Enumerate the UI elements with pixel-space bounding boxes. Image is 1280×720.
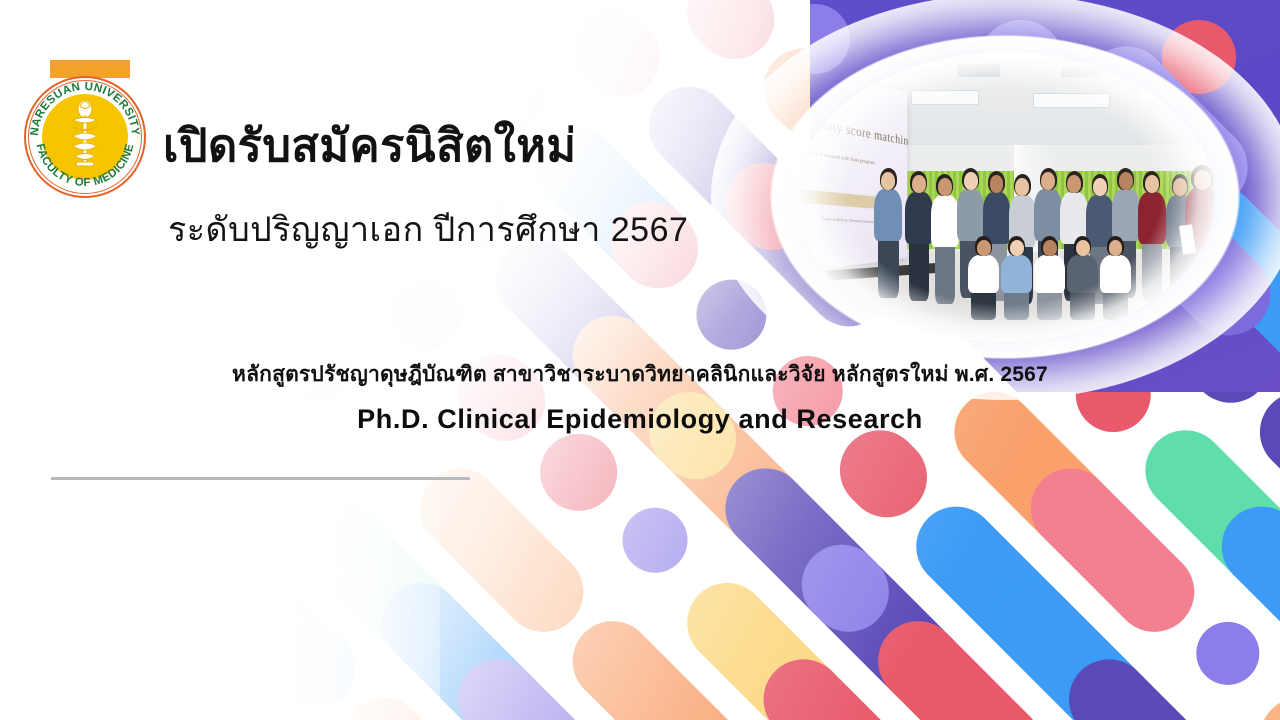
person-speaker bbox=[1184, 165, 1215, 308]
person-head bbox=[1067, 175, 1081, 193]
rod-of-asclepius-icon bbox=[42, 94, 128, 180]
person-torso bbox=[905, 192, 933, 244]
person-head bbox=[912, 175, 926, 193]
person-crouching bbox=[1099, 236, 1132, 320]
ceiling-vent-2 bbox=[1061, 67, 1099, 77]
person-legs bbox=[909, 242, 929, 300]
person-head bbox=[1093, 178, 1107, 196]
ceiling-light-2 bbox=[986, 52, 1054, 63]
person-head bbox=[990, 175, 1004, 193]
person-torso bbox=[931, 195, 959, 247]
person-legs bbox=[935, 246, 955, 304]
page-subtitle: ระดับปริญญาเอก ปีการศึกษา 2567 bbox=[168, 213, 688, 247]
slide-title: Propensity score matching bbox=[795, 110, 904, 148]
person-head bbox=[938, 178, 952, 196]
person-head bbox=[881, 172, 895, 190]
person-torso bbox=[1067, 255, 1098, 294]
person-legs bbox=[1037, 292, 1062, 321]
person-standing bbox=[873, 168, 903, 298]
person-legs bbox=[1142, 242, 1162, 300]
ceiling-vent-1 bbox=[958, 64, 1000, 77]
program-name-thai: หลักสูตรปรัชญาดุษฎีบัณฑิต สาขาวิชาระบาดว… bbox=[0, 358, 1280, 391]
person-torso bbox=[1001, 255, 1032, 294]
person-standing bbox=[1137, 171, 1167, 301]
person-head bbox=[1043, 240, 1057, 256]
person-head bbox=[964, 172, 978, 190]
person-legs bbox=[971, 292, 996, 321]
ceiling-light-6 bbox=[1137, 87, 1205, 102]
person-legs bbox=[1103, 292, 1128, 321]
person-torso bbox=[1138, 192, 1166, 244]
person-torso bbox=[1112, 189, 1140, 241]
group-photo: Propensity score matching Analysis of no… bbox=[795, 52, 1215, 342]
person-crouching bbox=[967, 236, 1000, 320]
person-torso bbox=[957, 189, 985, 241]
person-head bbox=[1119, 172, 1133, 190]
person-head bbox=[1010, 240, 1024, 256]
person-legs bbox=[878, 239, 898, 297]
background-bottomleft-fade bbox=[0, 430, 440, 720]
person-torso bbox=[1034, 255, 1065, 294]
ceiling-light-1 bbox=[864, 52, 941, 69]
ceiling-light-4 bbox=[911, 90, 979, 105]
person-crouching bbox=[1033, 236, 1066, 320]
person-crouching bbox=[1000, 236, 1033, 320]
person-torso bbox=[968, 255, 999, 294]
person-torso bbox=[874, 189, 902, 241]
slide-highlight-bar bbox=[800, 188, 881, 208]
person-head bbox=[1041, 172, 1055, 190]
person-crouching bbox=[1066, 236, 1099, 320]
slide-subtitle: Analysis of non-R research with Stata pr… bbox=[795, 146, 904, 169]
person-torso bbox=[1100, 255, 1131, 294]
person-head bbox=[1076, 240, 1090, 256]
person-legs bbox=[1070, 292, 1095, 321]
ceiling-light-3 bbox=[1099, 52, 1172, 66]
photo-oval-clip: Propensity score matching Analysis of no… bbox=[795, 52, 1215, 342]
person-head bbox=[977, 240, 991, 256]
person-torso bbox=[1034, 189, 1062, 241]
university-logo: NARESUAN UNIVERSITY FACULTY OF MEDICINE bbox=[16, 60, 152, 210]
poster-slide: Propensity score matching Analysis of no… bbox=[0, 0, 1280, 720]
divider-line bbox=[51, 477, 470, 480]
person-head bbox=[1145, 175, 1159, 193]
page-title: เปิดรับสมัครนิสิตใหม่ bbox=[163, 123, 577, 168]
person-head bbox=[1194, 170, 1211, 190]
photo-scene: Propensity score matching Analysis of no… bbox=[795, 52, 1215, 342]
person-head bbox=[1109, 240, 1123, 256]
program-name-english: Ph.D. Clinical Epidemiology and Research bbox=[0, 404, 1280, 435]
person-legs bbox=[1004, 292, 1029, 321]
ceiling-light-5 bbox=[1033, 93, 1110, 108]
